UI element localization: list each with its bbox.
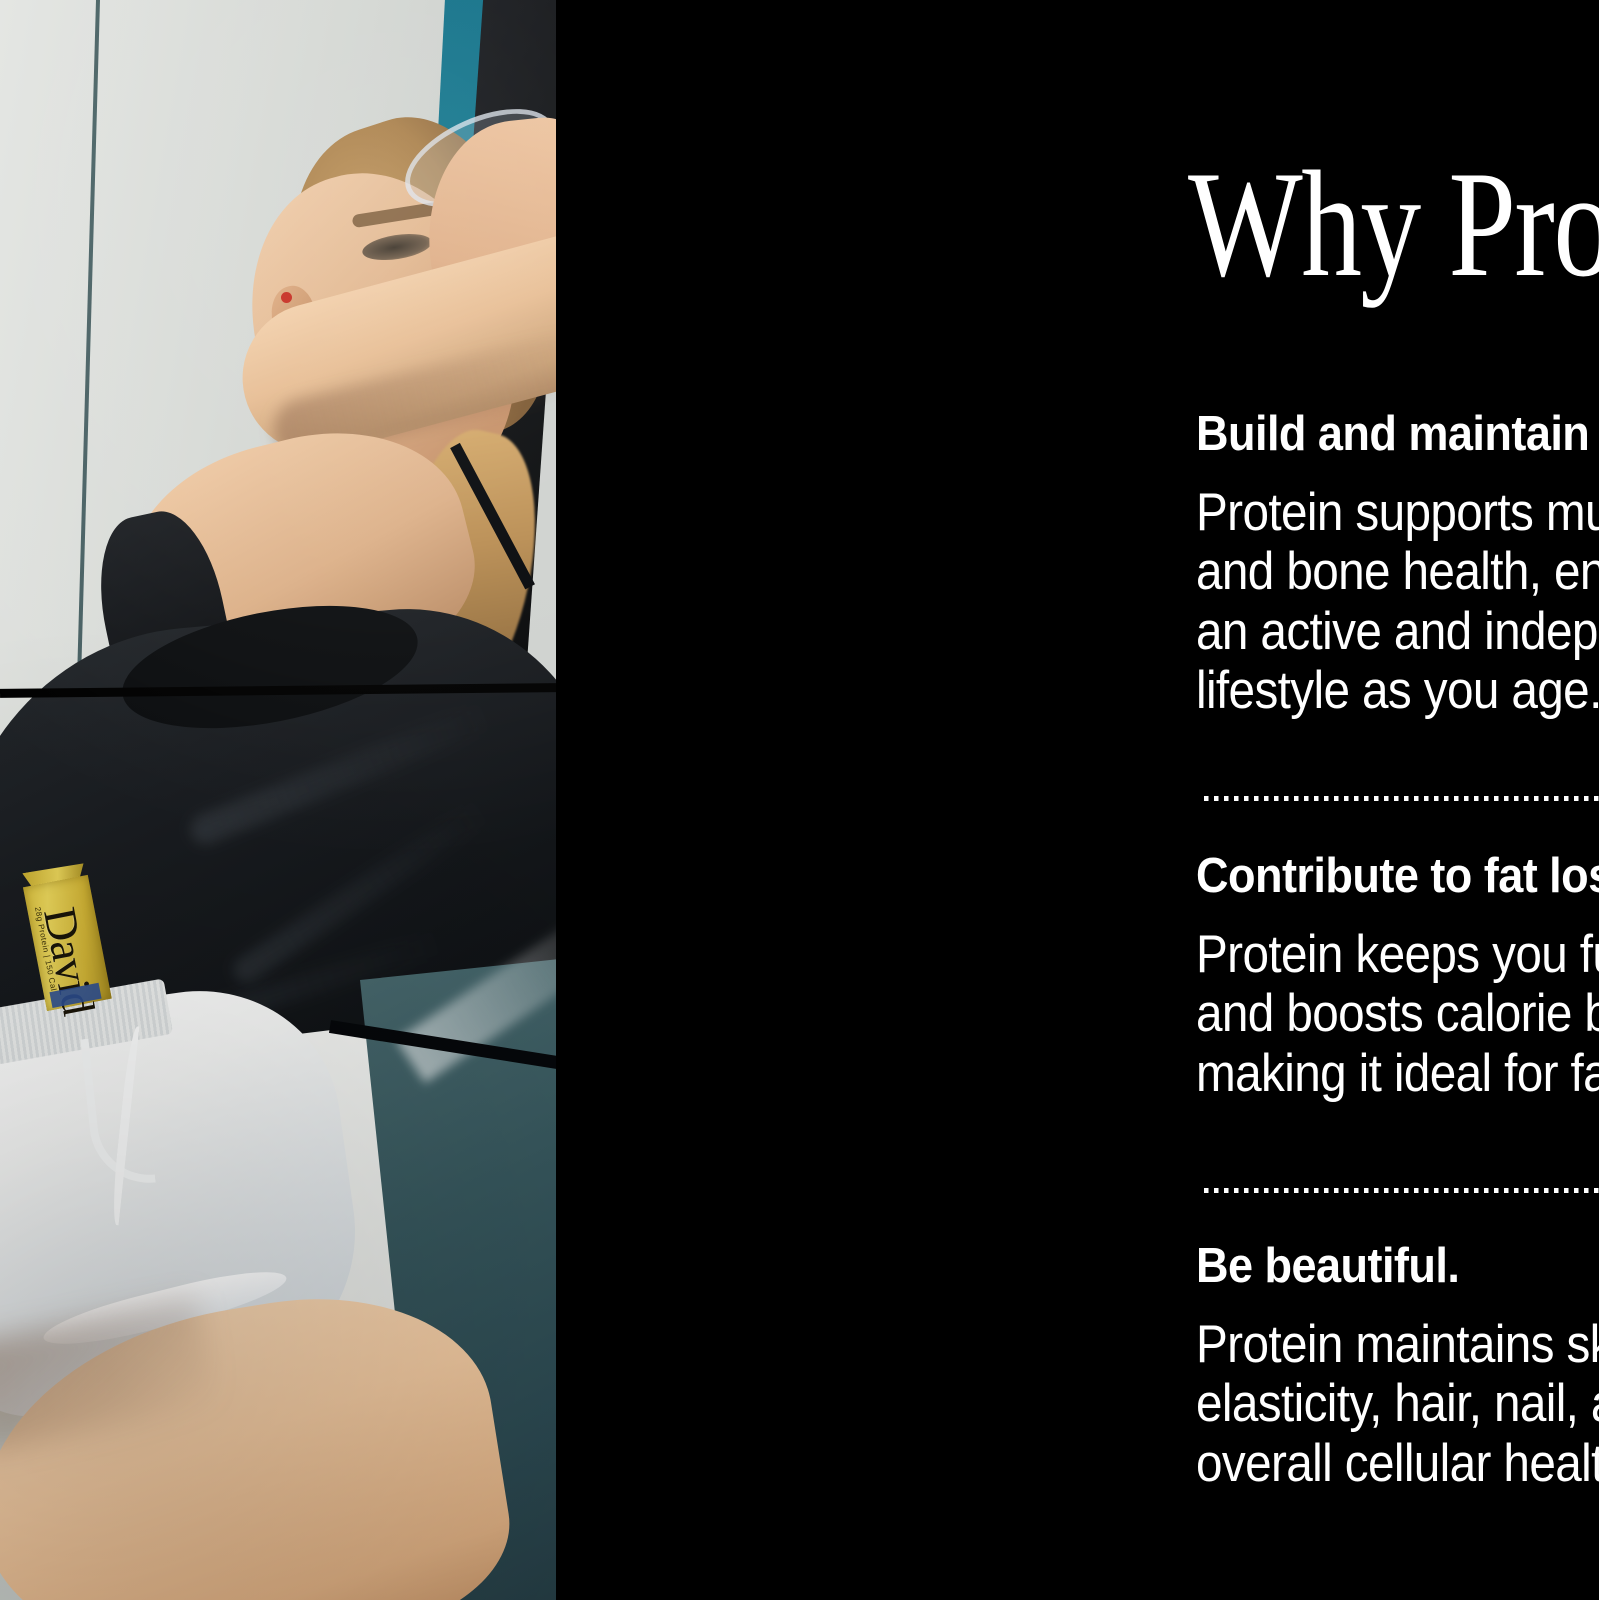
section-divider [1204,1188,1599,1193]
content-panel: Why Protein? Build and maintain strength… [556,0,1599,1600]
benefit-body-line: overall cellular health. [1196,1434,1599,1493]
section-divider [1204,796,1599,801]
benefit-section-beauty: Be beautiful. Protein maintains skin ela… [1196,1240,1599,1493]
benefit-heading: Contribute to fat loss. [1196,850,1599,903]
benefit-section-strength: Build and maintain strength. Protein sup… [1196,408,1599,720]
woman-athlete-photo: 28g Protein | 150 Cal David [0,0,556,1600]
benefit-body-line: and boosts calorie burn, [1196,984,1599,1043]
benefit-heading: Build and maintain strength. [1196,408,1599,461]
benefit-body: Protein maintains skin elasticity, hair,… [1196,1315,1599,1493]
benefit-body-line: Protein supports muscle [1196,483,1599,542]
benefit-body-line: and bone health, enabling [1196,542,1599,601]
benefit-body-line: an active and independent [1196,602,1599,661]
benefit-heading: Be beautiful. [1196,1240,1599,1293]
benefit-body-line: elasticity, hair, nail, and [1196,1374,1599,1433]
benefit-section-fat-loss: Contribute to fat loss. Protein keeps yo… [1196,850,1599,1103]
benefit-body-line: making it ideal for fat loss. [1196,1044,1599,1103]
benefit-body: Protein supports muscle and bone health,… [1196,483,1599,720]
benefit-body: Protein keeps you full longer and boosts… [1196,925,1599,1103]
benefit-body-line: Protein keeps you full longer [1196,925,1599,984]
earring [281,292,292,303]
benefit-body-line: lifestyle as you age. [1196,661,1599,720]
benefit-body-line: Protein maintains skin [1196,1315,1599,1374]
why-protein-card: 28g Protein | 150 Cal David Why Protein?… [0,0,1599,1600]
page-title: Why Protein? [1188,148,1599,300]
